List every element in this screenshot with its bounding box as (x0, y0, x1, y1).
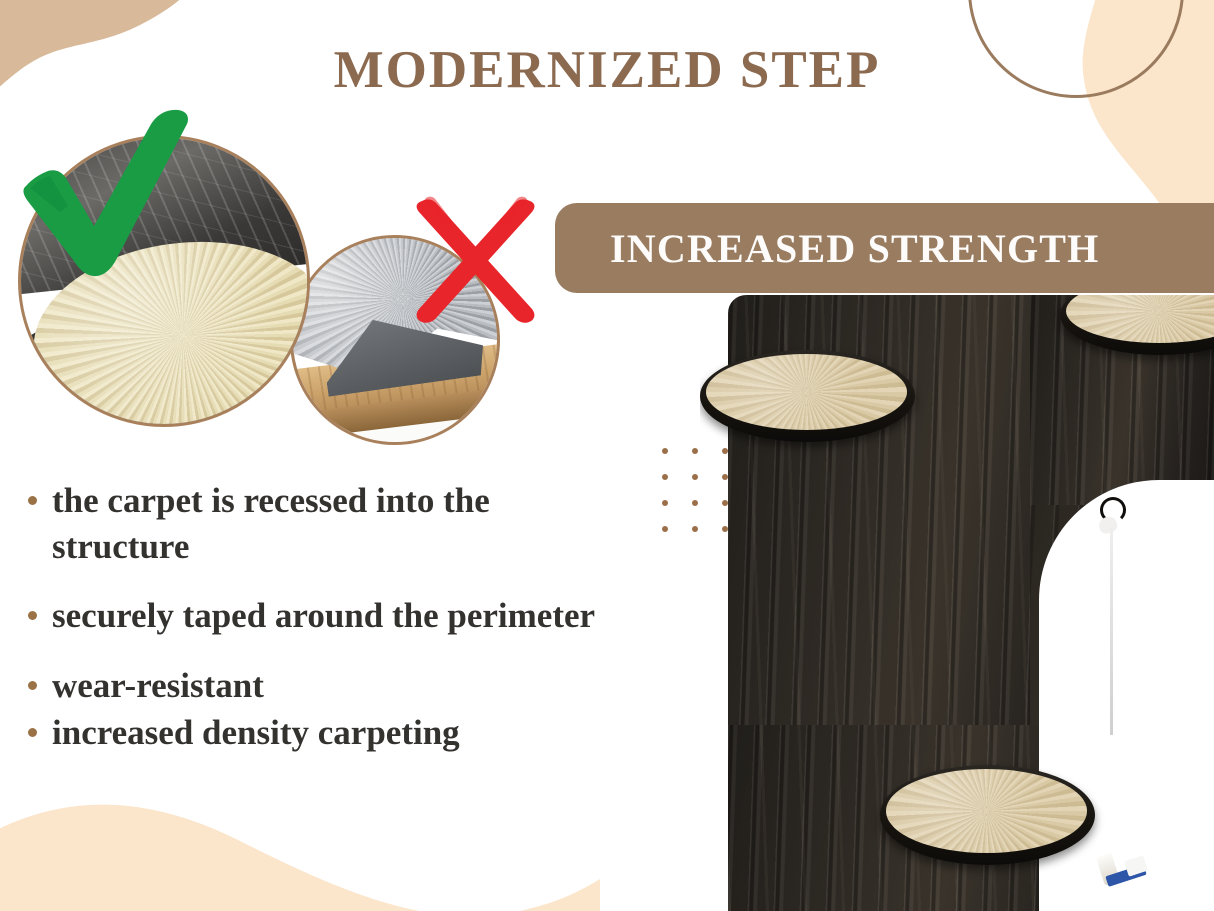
list-item-label: the carpet is recessed into the structur… (52, 478, 628, 569)
blue-toy-accessory (1100, 850, 1148, 890)
peach-blob-top-right-decoration (974, 0, 1214, 210)
bullet-dot-icon (28, 681, 37, 690)
increased-strength-banner: INCREASED STRENGTH (555, 203, 1214, 293)
carpeted-step-left (700, 350, 915, 442)
peach-wave-bottom-left-decoration (0, 761, 600, 911)
product-photo-cat-tree (700, 295, 1214, 911)
green-check-mark-icon (18, 108, 198, 283)
step-carpet-pad (886, 769, 1087, 853)
carpeted-step-bottom (880, 765, 1095, 865)
bullet-dot-icon (28, 728, 37, 737)
bullet-dot-icon (28, 496, 37, 505)
red-cross-mark-icon (412, 195, 540, 323)
list-item: the carpet is recessed into the structur… (28, 478, 628, 569)
list-item-label: increased density carpeting (52, 710, 460, 756)
list-item-label: securely taped around the perimeter (52, 593, 595, 639)
list-item: increased density carpeting (28, 710, 628, 756)
banner-label: INCREASED STRENGTH (555, 225, 1100, 272)
page-title: MODERNIZED STEP (0, 40, 1214, 100)
step-carpet-pad (706, 354, 907, 430)
infographic-canvas: MODERNIZED STEP INCREASED STRENGTH (0, 0, 1214, 911)
hanging-cord (1110, 525, 1113, 735)
list-item: securely taped around the perimeter (28, 593, 628, 639)
bullet-dot-icon (28, 611, 37, 620)
list-item: wear-resistant (28, 663, 628, 709)
features-bullet-list: the carpet is recessed into the structur… (28, 478, 628, 758)
list-item-label: wear-resistant (52, 663, 264, 709)
